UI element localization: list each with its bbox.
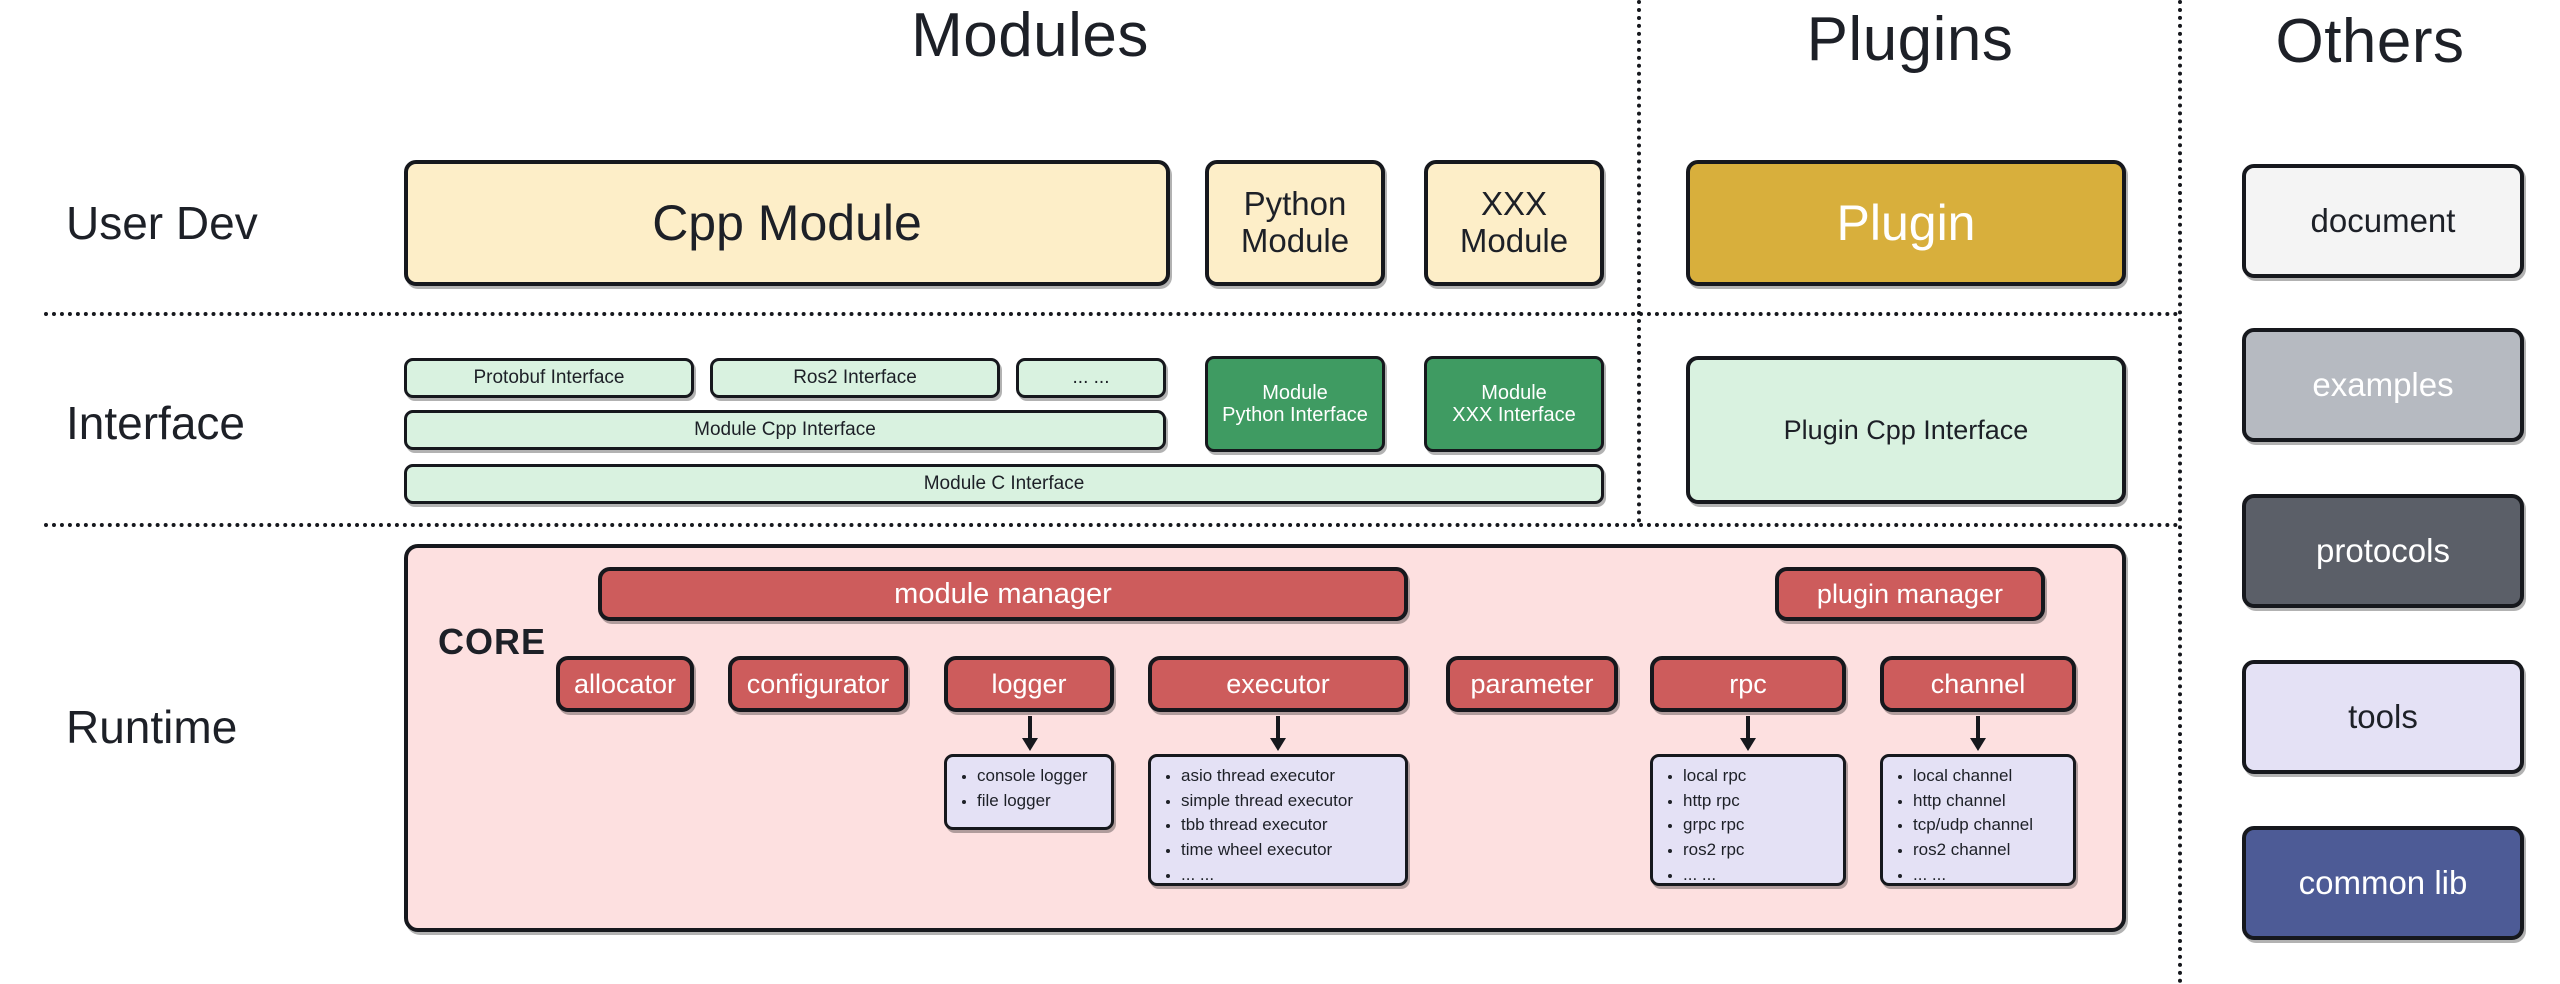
divider-userdev-interface: [44, 312, 2180, 316]
list-item: file logger: [977, 791, 1101, 812]
module-cpp-interface-box[interactable]: Module Cpp Interface: [404, 410, 1166, 450]
plugin-cpp-interface-label: Plugin Cpp Interface: [1784, 415, 2029, 445]
executor-sublist: asio thread executorsimple thread execut…: [1148, 754, 1408, 886]
executor-sublist-items: asio thread executorsimple thread execut…: [1159, 766, 1395, 886]
others-item-document[interactable]: document: [2242, 164, 2524, 278]
rpc-arrow-icon: [1735, 716, 1761, 752]
core-label: CORE: [438, 621, 546, 663]
parameter-box[interactable]: parameter: [1446, 656, 1618, 712]
configurator-box[interactable]: configurator: [728, 656, 908, 712]
channel-sublist-items: local channelhttp channeltcp/udp channel…: [1891, 766, 2063, 886]
list-item: http channel: [1913, 791, 2063, 812]
module-manager-box[interactable]: module manager: [598, 567, 1408, 621]
executor-box[interactable]: executor: [1148, 656, 1408, 712]
allocator-box[interactable]: allocator: [556, 656, 694, 712]
channel-label: channel: [1931, 669, 2026, 699]
ros2-interface-label: Ros2 Interface: [793, 367, 917, 388]
others-item-examples-label: examples: [2312, 367, 2453, 404]
row-label-runtime: Runtime: [66, 700, 237, 754]
logger-box[interactable]: logger: [944, 656, 1114, 712]
protobuf-interface-box[interactable]: Protobuf Interface: [404, 358, 694, 398]
rpc-sublist-items: local rpchttp rpcgrpc rpcros2 rpc... ...: [1661, 766, 1833, 886]
list-item: http rpc: [1683, 791, 1833, 812]
list-item: time wheel executor: [1181, 840, 1395, 861]
plugin-box[interactable]: Plugin: [1686, 160, 2126, 286]
column-title-modules: Modules: [820, 0, 1240, 71]
rpc-box[interactable]: rpc: [1650, 656, 1846, 712]
row-label-interface: Interface: [66, 396, 245, 450]
executor-label: executor: [1226, 669, 1330, 699]
list-item: ros2 rpc: [1683, 840, 1833, 861]
python-module-label-line2: Module: [1241, 223, 1349, 260]
channel-sublist: local channelhttp channeltcp/udp channel…: [1880, 754, 2076, 886]
plugin-cpp-interface-box[interactable]: Plugin Cpp Interface: [1686, 356, 2126, 504]
module-python-interface-label-line1: Module: [1262, 382, 1328, 404]
module-python-interface-label-line2: Python Interface: [1222, 404, 1368, 426]
list-item: local rpc: [1683, 766, 1833, 787]
logger-label: logger: [991, 669, 1066, 699]
module-xxx-interface-label-line1: Module: [1481, 382, 1547, 404]
cpp-module-label: Cpp Module: [652, 195, 922, 251]
divider-interface-runtime: [44, 523, 2180, 527]
list-item: ros2 channel: [1913, 840, 2063, 861]
plugin-label: Plugin: [1837, 195, 1976, 251]
module-cpp-interface-label: Module Cpp Interface: [694, 419, 876, 440]
xxx-module-label-line1: XXX: [1481, 186, 1547, 223]
logger-arrow-icon: [1017, 716, 1043, 752]
architecture-diagram: Modules Plugins Others User Dev Interfac…: [0, 0, 2560, 984]
divider-plugins-others: [2178, 0, 2182, 984]
others-item-protocols[interactable]: protocols: [2242, 494, 2524, 608]
others-item-tools[interactable]: tools: [2242, 660, 2524, 774]
configurator-label: configurator: [747, 669, 890, 699]
others-item-protocols-label: protocols: [2316, 533, 2450, 570]
row-label-user-dev: User Dev: [66, 196, 258, 250]
module-xxx-interface-box[interactable]: Module XXX Interface: [1424, 356, 1604, 452]
logger-sublist-items: console loggerfile logger: [955, 766, 1101, 811]
allocator-label: allocator: [574, 669, 676, 699]
divider-modules-plugins: [1637, 0, 1641, 523]
channel-arrow-icon: [1965, 716, 1991, 752]
list-item: tcp/udp channel: [1913, 815, 2063, 836]
xxx-module-box[interactable]: XXX Module: [1424, 160, 1604, 286]
module-python-interface-box[interactable]: Module Python Interface: [1205, 356, 1385, 452]
list-item: grpc rpc: [1683, 815, 1833, 836]
python-module-label-line1: Python: [1244, 186, 1347, 223]
python-module-box[interactable]: Python Module: [1205, 160, 1385, 286]
list-item: simple thread executor: [1181, 791, 1395, 812]
executor-arrow-icon: [1265, 716, 1291, 752]
list-item: asio thread executor: [1181, 766, 1395, 787]
parameter-label: parameter: [1470, 669, 1593, 699]
list-item: ... ...: [1913, 865, 2063, 886]
module-manager-label: module manager: [894, 578, 1112, 610]
logger-sublist: console loggerfile logger: [944, 754, 1114, 830]
others-item-common-lib[interactable]: common lib: [2242, 826, 2524, 940]
more-interface-box[interactable]: ... ...: [1016, 358, 1166, 398]
others-item-tools-label: tools: [2348, 699, 2418, 736]
module-c-interface-label: Module C Interface: [924, 473, 1085, 494]
list-item: ... ...: [1683, 865, 1833, 886]
rpc-sublist: local rpchttp rpcgrpc rpcros2 rpc... ...: [1650, 754, 1846, 886]
column-title-plugins: Plugins: [1700, 4, 2120, 75]
list-item: tbb thread executor: [1181, 815, 1395, 836]
list-item: local channel: [1913, 766, 2063, 787]
more-interface-label: ... ...: [1073, 367, 1110, 388]
module-c-interface-box[interactable]: Module C Interface: [404, 464, 1604, 504]
cpp-module-box[interactable]: Cpp Module: [404, 160, 1170, 286]
plugin-manager-box[interactable]: plugin manager: [1775, 567, 2045, 621]
xxx-module-label-line2: Module: [1460, 223, 1568, 260]
list-item: ... ...: [1181, 865, 1395, 886]
others-item-examples[interactable]: examples: [2242, 328, 2524, 442]
protobuf-interface-label: Protobuf Interface: [473, 367, 624, 388]
channel-box[interactable]: channel: [1880, 656, 2076, 712]
plugin-manager-label: plugin manager: [1817, 579, 2003, 609]
ros2-interface-box[interactable]: Ros2 Interface: [710, 358, 1000, 398]
rpc-label: rpc: [1729, 669, 1767, 699]
column-title-others: Others: [2180, 6, 2560, 77]
others-item-document-label: document: [2311, 203, 2456, 240]
others-item-common-lib-label: common lib: [2299, 865, 2468, 902]
module-xxx-interface-label-line2: XXX Interface: [1452, 404, 1575, 426]
list-item: console logger: [977, 766, 1101, 787]
